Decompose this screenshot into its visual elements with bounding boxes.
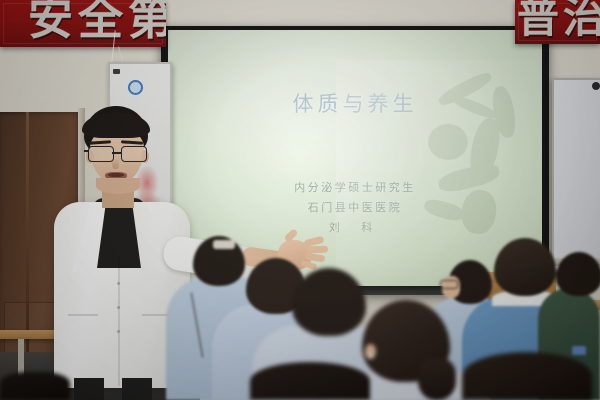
red-banner-right: 普 治: [515, 0, 600, 44]
audience-eyeglasses-icon: [440, 280, 458, 289]
banner-char-3: 第: [128, 0, 166, 41]
whiteboard-corner-cap: [592, 82, 600, 90]
speaker-leg-left: [74, 378, 104, 400]
foreground-head-right: [462, 352, 592, 400]
foreground-head-left: [0, 372, 70, 400]
banner-char-2: 全: [78, 0, 123, 41]
audience-woman-ponytail: [418, 358, 456, 400]
banner-right-char-2: 治: [563, 0, 600, 39]
audience-badge: [572, 346, 586, 355]
foreground-head-center: [250, 362, 370, 400]
whiteboard-blue-sticker: [128, 80, 143, 95]
right-whiteboard: [552, 78, 600, 272]
banner-right-char-1: 普: [517, 0, 559, 39]
earring: [368, 354, 373, 359]
audience-member-green-shirt-head: [556, 252, 600, 296]
photo-scene: 体质与养生 内分泌学硕士研究生 石门县中医医院 刘 科 安 全 第 普 治: [0, 0, 600, 400]
speaker-leg-right: [122, 378, 152, 400]
audience-hair-clip: [213, 240, 235, 249]
audience-member-blue-polo-head: [494, 238, 556, 296]
red-banner-left: 安 全 第: [0, 0, 166, 47]
banner-char-1: 安: [28, 0, 73, 41]
